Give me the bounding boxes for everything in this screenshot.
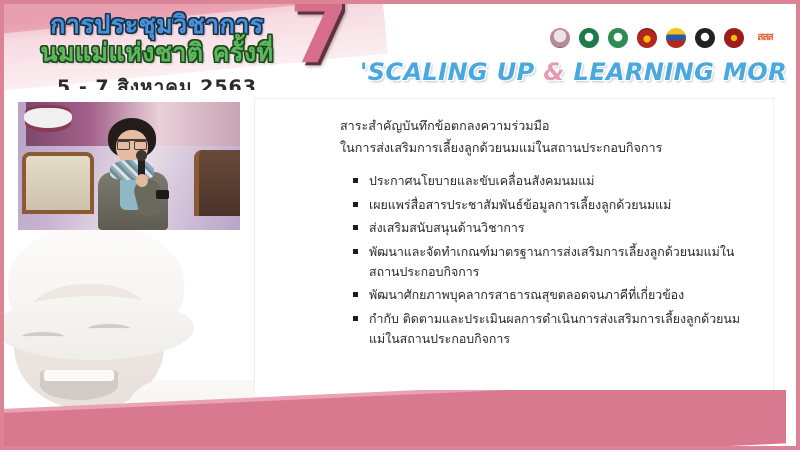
- list-item: พัฒนาศักยภาพบุคลากรสาธารณสุขตลอดจนภาคีที…: [353, 285, 753, 305]
- backdrop-smile-graphic: [24, 108, 72, 128]
- chair-left: [22, 152, 94, 214]
- list-item: ประกาศนโยบายและขับเคลื่อนสังคมนมแม่: [353, 171, 753, 191]
- conference-title-line2: นมแม่แห่งชาติ ครั้งที่: [22, 40, 292, 65]
- edition-number: 7: [289, 4, 349, 76]
- logo-black-circle-icon: [694, 28, 716, 54]
- microphone-head-icon: [136, 150, 147, 161]
- logo-red-crest-icon: [723, 28, 745, 54]
- logo-health-green-1-icon: [578, 28, 600, 54]
- speaker-hand: [136, 174, 148, 187]
- child-photo-container: [4, 230, 254, 420]
- frame-bottom-border: [0, 446, 800, 450]
- logo-national-emblem-icon: [665, 28, 687, 54]
- tagline-part-1: 'SCALING UP: [360, 58, 543, 86]
- organization-logos: สสส: [549, 28, 778, 54]
- smiling-child-photo: [4, 230, 254, 420]
- content-heading-line1: สาระสำคัญบันทึกข้อตกลงความร่วมมือ: [340, 115, 760, 137]
- slide-body: สาระสำคัญบันทึกข้อตกลงความร่วมมือ ในการส…: [4, 90, 796, 446]
- chair-right: [194, 150, 240, 216]
- tagline-part-2: LEARNING MORE': [565, 58, 800, 86]
- logo-royal-crest-red-icon: [636, 28, 658, 54]
- tagline-ampersand: &: [543, 58, 564, 86]
- list-item: พัฒนาและจัดทำเกณฑ์มาตรฐานการส่งเสริมการเ…: [353, 242, 753, 282]
- presenter-remote: [156, 190, 169, 199]
- speaker-figure: [94, 118, 172, 230]
- media-column: [18, 102, 240, 230]
- frame-inner-right-gap: [786, 4, 796, 446]
- list-item: ส่งเสริมสนับสนุนด้านวิชาการ: [353, 218, 753, 238]
- logo-royal-seal-icon: [549, 28, 571, 54]
- thaihealth-label: สสส: [752, 30, 778, 45]
- conference-tagline: 'SCALING UP & LEARNING MORE': [360, 58, 790, 86]
- conference-title-line1: การประชุมวิชาการ: [22, 12, 292, 37]
- child-eye-right: [88, 324, 130, 333]
- list-item: กำกับ ติดตามและประเมินผลการดำเนินการส่งเ…: [353, 309, 753, 349]
- content-bullet-list: ประกาศนโยบายและขับเคลื่อนสังคมนมแม่ เผยแ…: [353, 171, 753, 353]
- list-item: เผยแพร่สื่อสารประชาสัมพันธ์ข้อมูลการเลี้…: [353, 195, 753, 215]
- child-eye-left: [22, 332, 64, 341]
- conference-title-block: การประชุมวิชาการ นมแม่แห่งชาติ ครั้งที่ …: [22, 6, 292, 90]
- conference-date: 5 - 7 สิงหาคม 2563: [22, 72, 292, 90]
- logo-health-green-2-icon: [607, 28, 629, 54]
- speaker-video-thumbnail[interactable]: [18, 102, 240, 230]
- child-shoulder: [124, 380, 254, 420]
- presentation-slide: การประชุมวิชาการ นมแม่แห่งชาติ ครั้งที่ …: [0, 0, 800, 450]
- content-heading: สาระสำคัญบันทึกข้อตกลงความร่วมมือ ในการส…: [340, 115, 760, 158]
- content-panel: สาระสำคัญบันทึกข้อตกลงความร่วมมือ ในการส…: [254, 98, 774, 428]
- child-teeth: [44, 370, 114, 381]
- speaker-glasses-icon: [117, 139, 147, 146]
- logo-thaihealth-sss-icon: สสส: [752, 28, 778, 54]
- content-heading-line2: ในการส่งเสริมการเลี้ยงลูกด้วยนมแม่ในสถาน…: [340, 137, 760, 159]
